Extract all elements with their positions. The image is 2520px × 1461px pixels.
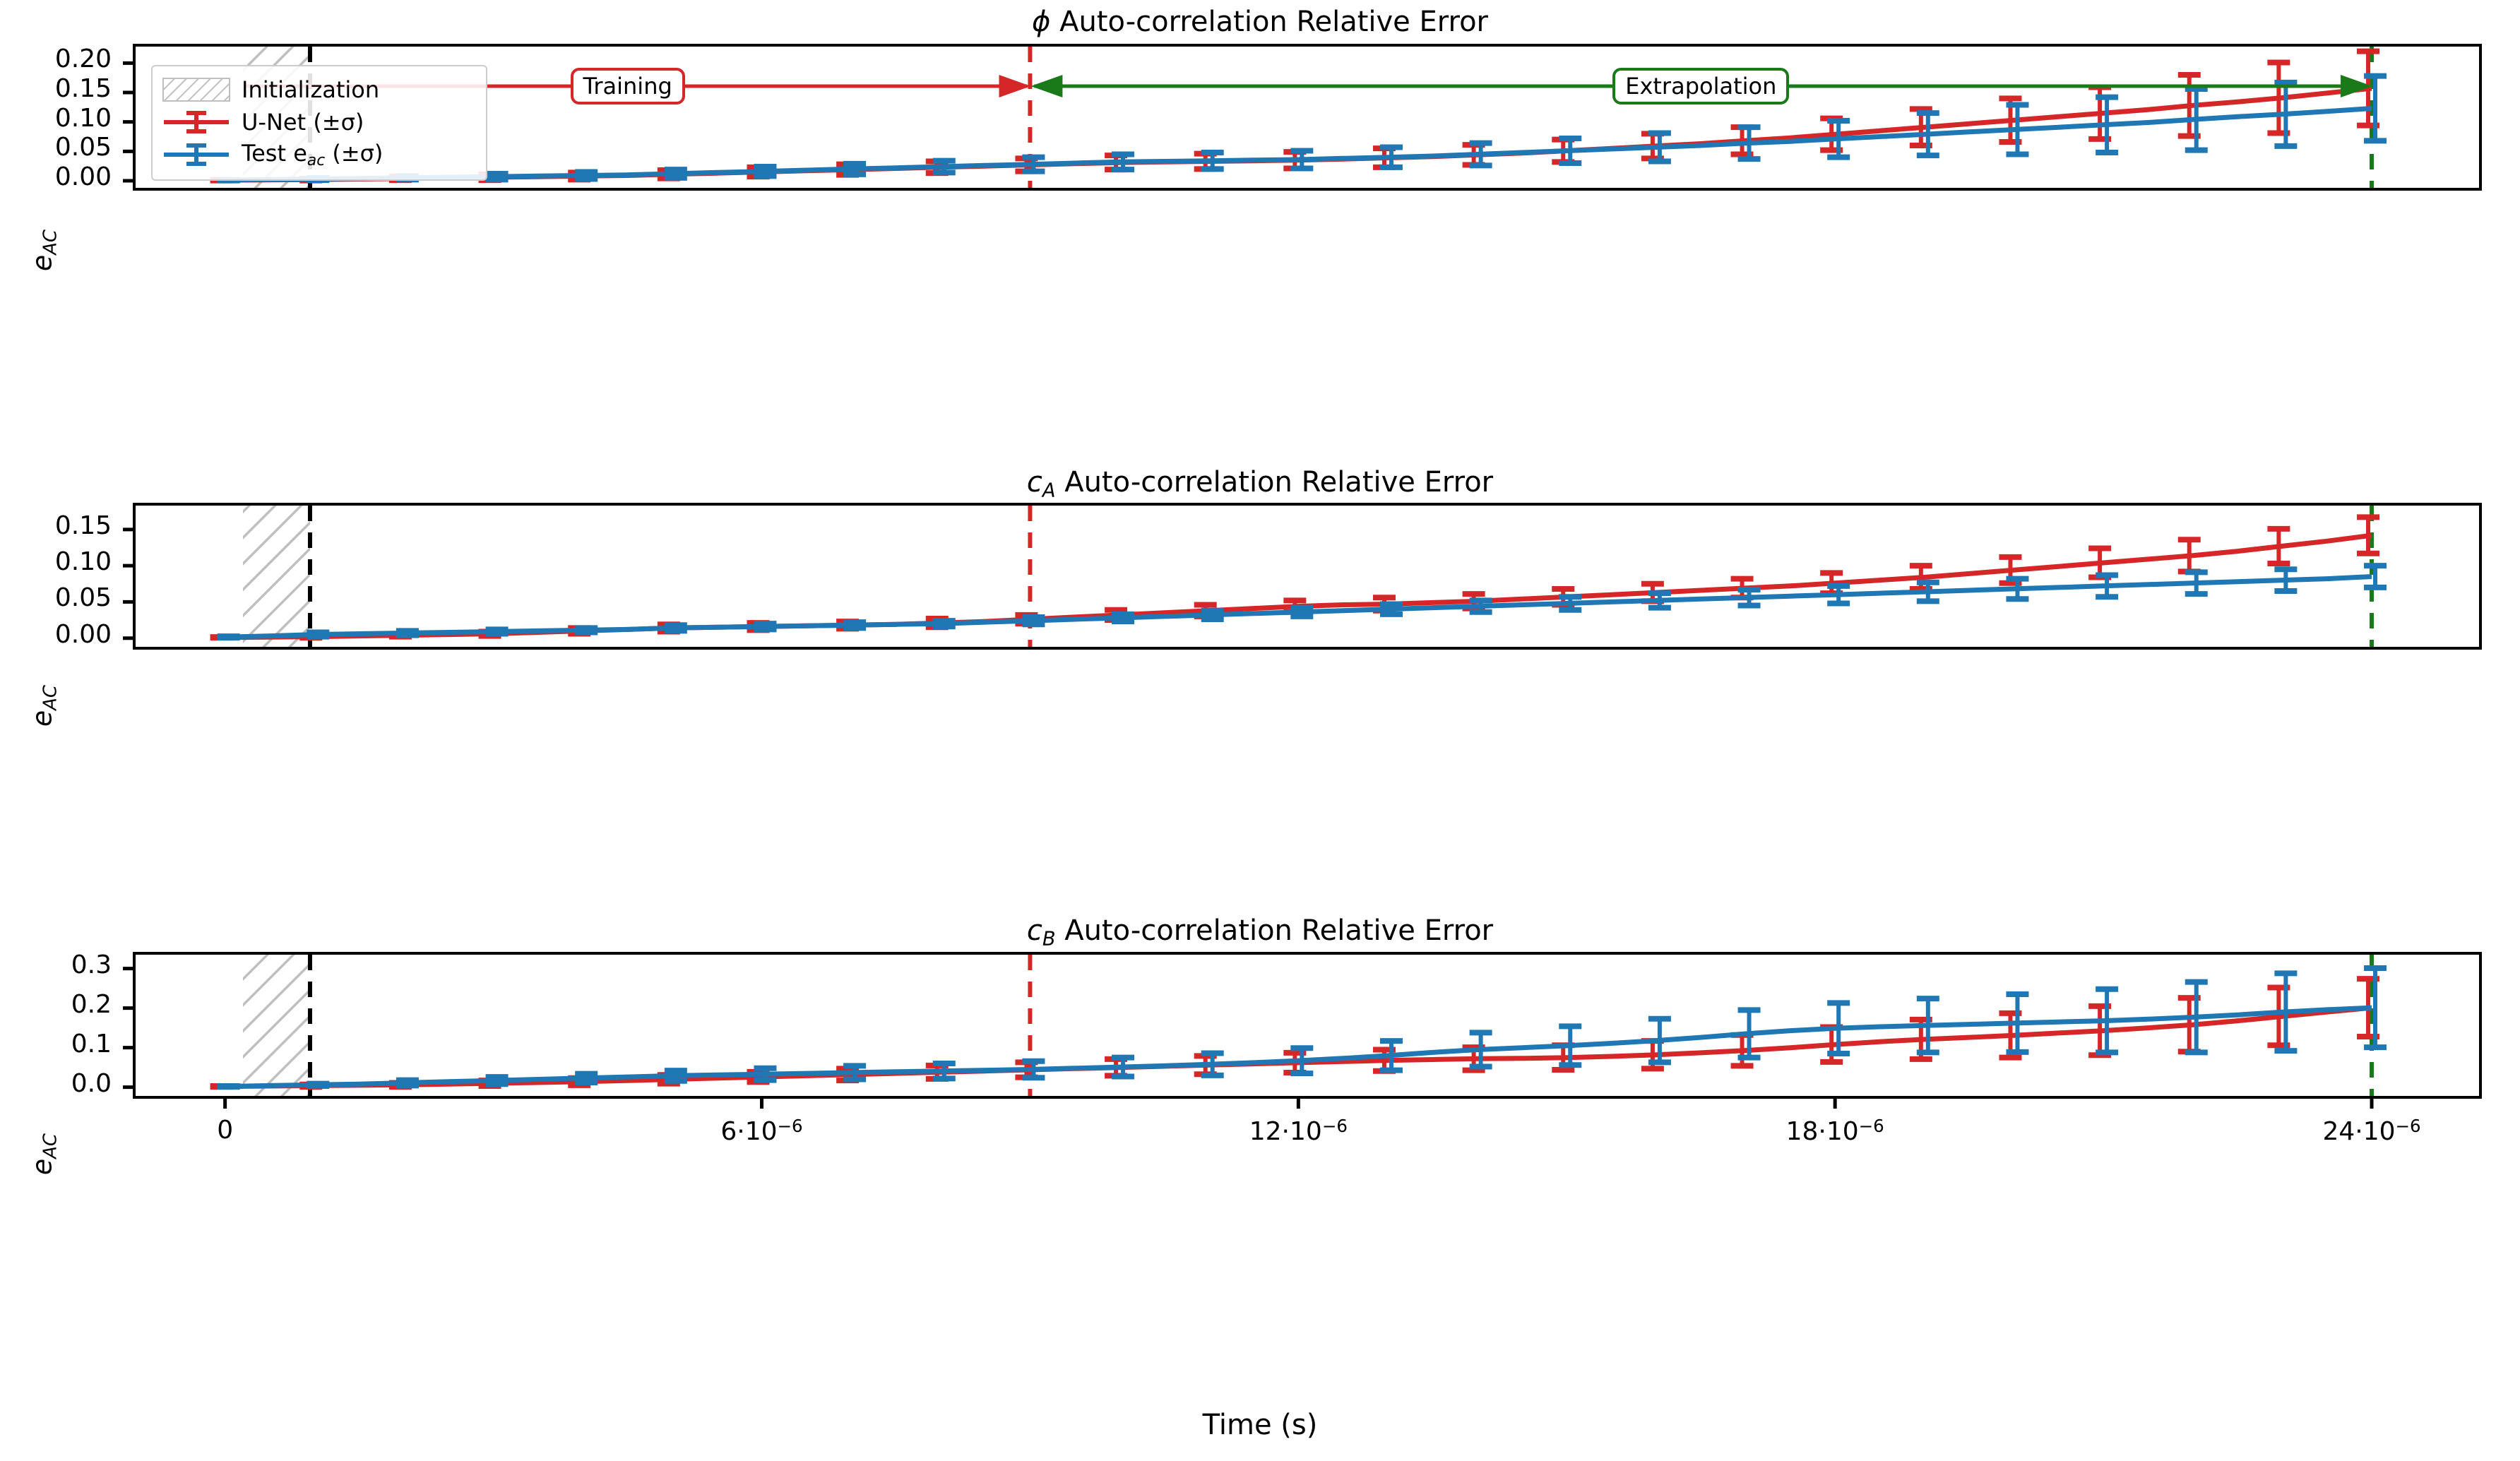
ylabel-main-1: e: [26, 255, 57, 271]
y-tick-label: 0.2: [0, 990, 112, 1019]
subplot-2-title-subscript: A: [1042, 480, 1056, 502]
y-tick-label: 0.00: [0, 162, 112, 191]
ylabel-main-2: e: [26, 710, 57, 727]
legend-label-initialization: Initialization: [242, 76, 379, 103]
x-axis-label: Time (s): [0, 1409, 2520, 1441]
errorbar-swatch-blue-icon: [162, 143, 230, 167]
figure-root: ϕ Auto-correlation Relative Error eAC cA…: [0, 0, 2520, 1461]
x-tick-label: 0: [84, 1116, 367, 1145]
y-tick-label: 0.3: [0, 950, 112, 979]
subplot-3-title: cB Auto-correlation Relative Error: [0, 914, 2520, 950]
legend-label-test-tail: (±σ): [325, 140, 383, 167]
subplot-1-title: ϕ Auto-correlation Relative Error: [0, 6, 2520, 38]
y-tick-label: 0.20: [0, 44, 112, 73]
subplot-2-title-symbol: c: [1027, 466, 1042, 499]
x-tick-label: 24·10−6: [2230, 1116, 2513, 1146]
hatch-swatch-icon: [162, 78, 230, 102]
subplot-3-ylabel: eAC: [26, 1098, 61, 1211]
subplot-3-axes: [133, 952, 2482, 1099]
ylabel-main-3: e: [26, 1159, 57, 1175]
ylabel-sub-1: AC: [40, 229, 61, 255]
y-tick-label: 0.15: [0, 74, 112, 103]
y-tick-label: 0.10: [0, 104, 112, 133]
errorbar-swatch-red-icon: [162, 110, 230, 134]
legend-label-unet: U-Net (±σ): [242, 109, 364, 136]
y-tick-label: 0.00: [0, 620, 112, 649]
subplot-2-title: cA Auto-correlation Relative Error: [0, 466, 2520, 502]
x-tick-label: 6·10−6: [620, 1116, 903, 1146]
subplot-3-title-rest: Auto-correlation Relative Error: [1056, 914, 1494, 947]
y-tick-label: 0.15: [0, 511, 112, 540]
subplot-1-ylabel: eAC: [26, 194, 61, 307]
subplot-3-title-subscript: B: [1042, 929, 1056, 950]
y-tick-label: 0.05: [0, 583, 112, 612]
ylabel-sub-2: AC: [40, 685, 61, 710]
legend: Initialization U-Net (±σ): [151, 65, 487, 181]
x-tick-label: 12·10−6: [1157, 1116, 1439, 1146]
legend-label-test: Test eac (±σ): [242, 140, 383, 169]
annotation-extrapolation-label: Extrapolation: [1625, 73, 1776, 100]
legend-label-test-sub: ac: [307, 152, 325, 169]
y-tick-label: 0.0: [0, 1069, 112, 1098]
legend-item-initialization: Initialization: [162, 73, 475, 106]
y-tick-label: 0.10: [0, 547, 112, 576]
legend-label-test-main: Test e: [242, 140, 307, 167]
subplot-3-title-symbol: c: [1027, 914, 1042, 947]
y-tick-label: 0.1: [0, 1030, 112, 1059]
subplot-2-title-rest: Auto-correlation Relative Error: [1055, 466, 1493, 499]
annotation-training: Training: [571, 68, 685, 105]
subplot-1-title-symbol: ϕ: [1032, 6, 1050, 38]
legend-item-unet: U-Net (±σ): [162, 106, 475, 138]
y-tick-label: 0.05: [0, 133, 112, 162]
subplot-2-ylabel: eAC: [26, 650, 61, 763]
annotation-extrapolation: Extrapolation: [1612, 68, 1789, 105]
ylabel-sub-3: AC: [40, 1133, 61, 1159]
annotation-training-label: Training: [583, 73, 672, 100]
subplot-1-title-rest: Auto-correlation Relative Error: [1050, 6, 1488, 38]
subplot-2-axes: [133, 503, 2482, 650]
subplot-1-canvas: [0, 0, 2520, 1461]
x-tick-label: 18·10−6: [1694, 1116, 1976, 1146]
legend-item-test: Test eac (±σ): [162, 138, 475, 171]
